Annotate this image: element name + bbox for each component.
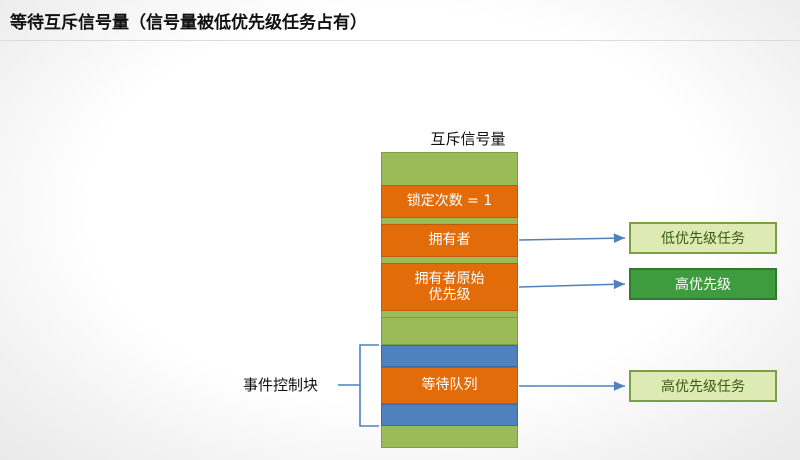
semaphore-label: 互斥信号量 [398, 128, 538, 149]
owner-original-priority-line1: 拥有者原始 [415, 271, 485, 287]
low-priority-task-box: 低优先级任务 [629, 222, 777, 254]
page-title: 等待互斥信号量（信号量被低优先级任务占有） [10, 8, 367, 33]
event-control-block-bracket [360, 345, 379, 426]
lock-count-cell: 锁定次数 = 1 [381, 185, 518, 218]
diagram-canvas: 等待互斥信号量（信号量被低优先级任务占有） 互斥信号量 锁定次数 = 1 拥有者… [0, 0, 800, 460]
owner-original-priority-line2: 优先级 [429, 287, 471, 303]
arrow-origprio-to-high-priority [519, 284, 625, 287]
high-priority-task-box: 高优先级任务 [629, 370, 777, 402]
title-divider [0, 40, 800, 41]
arrow-owner-to-low-priority [519, 238, 625, 240]
ecb-blue-band-top [381, 345, 518, 367]
event-control-block-label: 事件控制块 [243, 374, 318, 395]
column-green-band [381, 317, 518, 345]
owner-cell: 拥有者 [381, 224, 518, 257]
ecb-blue-band-bottom [381, 404, 518, 426]
owner-original-priority-cell: 拥有者原始 优先级 [381, 263, 518, 311]
high-priority-box: 高优先级 [629, 268, 777, 300]
wait-queue-cell: 等待队列 [381, 367, 518, 404]
